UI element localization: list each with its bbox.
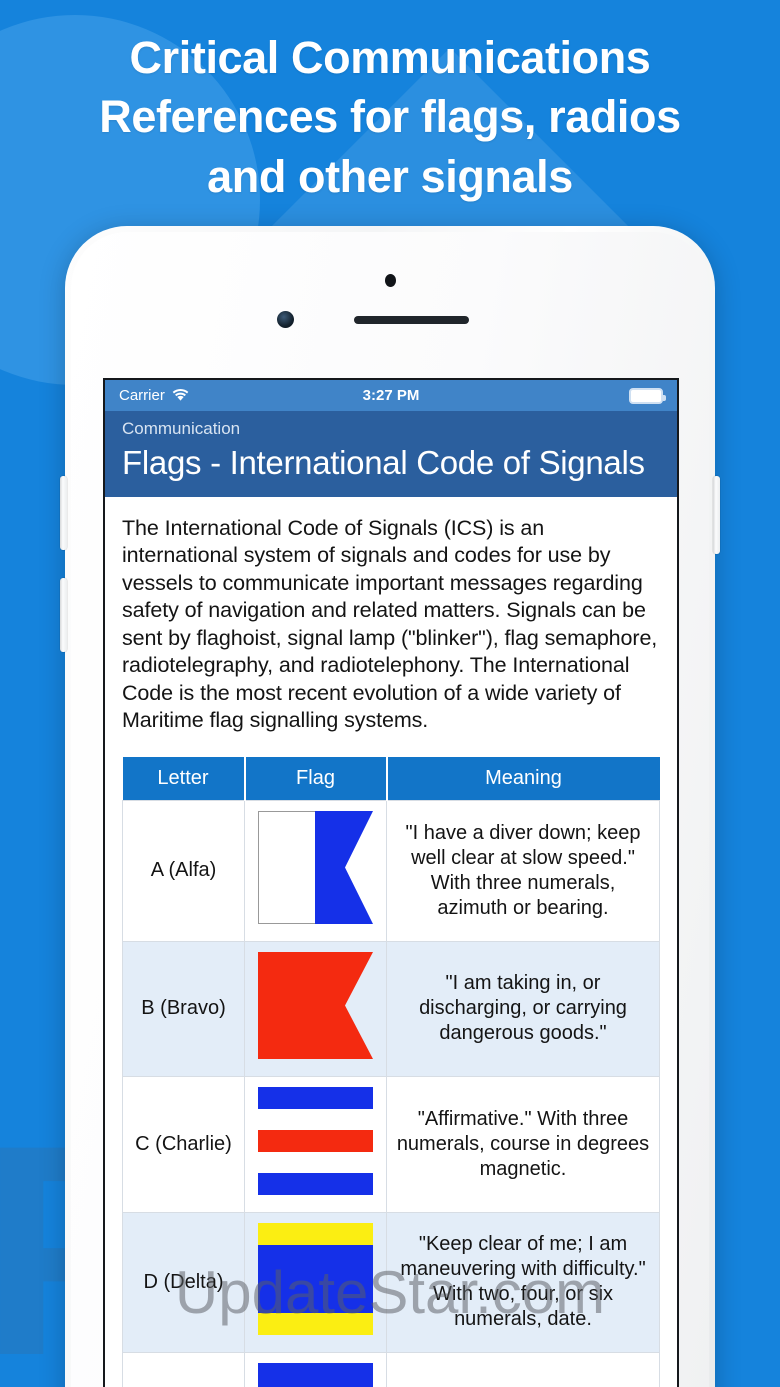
promo-headline-line-2: References for flags, radios — [0, 87, 780, 146]
cell-meaning: "I am altering my course to starboard." — [387, 1352, 660, 1387]
navigation-bar: Communication Flags - International Code… — [105, 411, 677, 497]
signal-flags-table: Letter Flag Meaning A (Alfa) — [122, 757, 660, 1387]
power-button[interactable] — [713, 476, 720, 554]
table-row[interactable]: A (Alfa) "I have a diver down; keep well… — [123, 800, 660, 941]
table-header-row: Letter Flag Meaning — [123, 757, 660, 801]
proximity-sensor-icon — [277, 311, 294, 328]
cell-flag — [245, 1212, 387, 1352]
battery-full-icon — [629, 388, 663, 404]
cell-flag — [245, 941, 387, 1076]
flag-delta-icon — [258, 1223, 373, 1342]
status-bar: Carrier 3:27 PM — [105, 380, 677, 411]
camera-dot-icon — [385, 274, 396, 287]
table-row[interactable]: E (Echo) "I am altering my course to sta… — [123, 1352, 660, 1387]
wifi-icon — [172, 389, 189, 402]
table-row[interactable]: B (Bravo) "I am taking in, or dischargin… — [123, 941, 660, 1076]
status-bar-left: Carrier — [119, 387, 189, 404]
cell-flag — [245, 800, 387, 941]
flag-alfa-icon — [258, 811, 373, 931]
intro-paragraph: The International Code of Signals (ICS) … — [122, 515, 660, 735]
cell-letter: B (Bravo) — [123, 941, 245, 1076]
flag-charlie-icon — [258, 1087, 373, 1202]
volume-down-button[interactable] — [60, 578, 67, 652]
screen-content: The International Code of Signals (ICS) … — [105, 497, 677, 1387]
promo-headline-line-1: Critical Communications — [0, 28, 780, 87]
flag-bravo-icon — [258, 952, 373, 1066]
cell-letter: A (Alfa) — [123, 800, 245, 941]
earpiece-speaker-icon — [354, 316, 469, 324]
table-row[interactable]: D (Delta) "Keep clear of me; I am maneuv… — [123, 1212, 660, 1352]
cell-meaning: "Affirmative." With three numerals, cour… — [387, 1076, 660, 1212]
cell-letter: C (Charlie) — [123, 1076, 245, 1212]
promo-headline-line-3: and other signals — [0, 147, 780, 206]
cell-meaning: "I am taking in, or discharging, or carr… — [387, 941, 660, 1076]
cell-letter: D (Delta) — [123, 1212, 245, 1352]
flag-echo-icon — [258, 1363, 373, 1387]
column-header-letter[interactable]: Letter — [123, 757, 245, 801]
phone-device-frame: Carrier 3:27 PM Communication Flags - In… — [65, 226, 715, 1387]
page-title: Flags - International Code of Signals — [122, 442, 660, 483]
column-header-meaning[interactable]: Meaning — [387, 757, 660, 801]
cell-letter: E (Echo) — [123, 1352, 245, 1387]
volume-up-button[interactable] — [60, 476, 67, 550]
carrier-label: Carrier — [119, 387, 165, 404]
table-row[interactable]: C (Charlie) — [123, 1076, 660, 1212]
status-bar-time: 3:27 PM — [105, 387, 677, 404]
breadcrumb[interactable]: Communication — [122, 416, 660, 442]
cell-meaning: "I have a diver down; keep well clear at… — [387, 800, 660, 941]
phone-screen: Carrier 3:27 PM Communication Flags - In… — [103, 378, 679, 1387]
cell-meaning: "Keep clear of me; I am maneuvering with… — [387, 1212, 660, 1352]
promo-headline: Critical Communications References for f… — [0, 28, 780, 206]
cell-flag — [245, 1352, 387, 1387]
status-bar-right — [629, 388, 663, 404]
column-header-flag[interactable]: Flag — [245, 757, 387, 801]
cell-flag — [245, 1076, 387, 1212]
